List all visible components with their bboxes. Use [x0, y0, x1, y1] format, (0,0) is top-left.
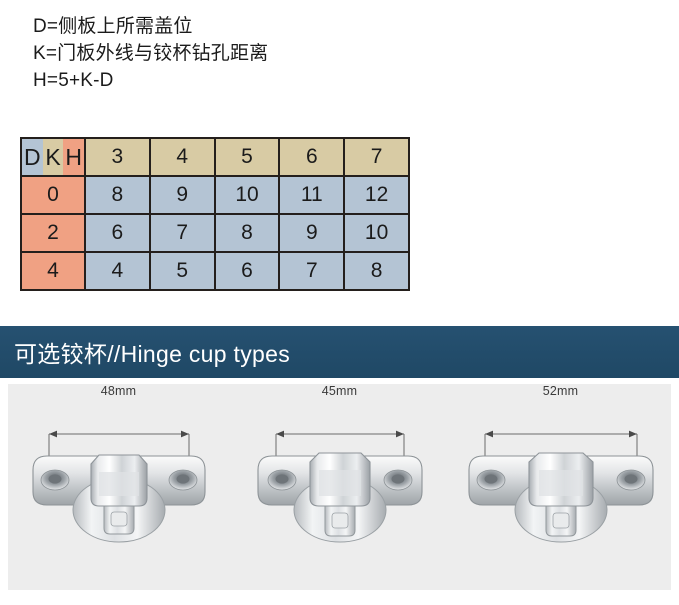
table-cell: 8: [215, 214, 280, 252]
table-cell: 8: [85, 176, 150, 214]
column-header-cell: 3: [85, 138, 150, 176]
corner-label-d: D: [22, 139, 43, 175]
table-cell: 9: [279, 214, 344, 252]
table-row: 2 6 7 8 9 10: [21, 214, 409, 252]
column-header-cell: 6: [279, 138, 344, 176]
row-label-cell: 2: [21, 214, 85, 252]
table-cell: 6: [215, 252, 280, 290]
formula-line-h: H=5+K-D: [33, 67, 453, 94]
hinge-cup-48-illustration: [19, 398, 219, 568]
formula-line-k: K=门板外线与铰杯钻孔距离: [33, 40, 453, 67]
formula-line-d: D=侧板上所需盖位: [33, 13, 453, 40]
table-cell: 4: [85, 252, 150, 290]
hinge-cup-48: 48mm: [8, 384, 229, 590]
table-cell: 6: [85, 214, 150, 252]
table-cell: 11: [279, 176, 344, 214]
table-row: 4 4 5 6 7 8: [21, 252, 409, 290]
column-header-cell: 7: [344, 138, 409, 176]
hinge-cup-52: 52mm: [450, 384, 671, 590]
table-cell: 9: [150, 176, 215, 214]
table-cell: 7: [150, 214, 215, 252]
table-cell: 8: [344, 252, 409, 290]
table-header-row: D K H 3 4 5 6 7: [21, 138, 409, 176]
hinge-cup-45: 45mm: [229, 384, 450, 590]
section-banner: 可选铰杯//Hinge cup types: [0, 326, 679, 378]
table-cell: 10: [344, 214, 409, 252]
hinge-gallery: 48mm: [8, 384, 671, 590]
column-header-cell: 4: [150, 138, 215, 176]
hinge-dimension-label: 48mm: [8, 384, 229, 398]
table-cell: 5: [150, 252, 215, 290]
column-header-cell: 5: [215, 138, 280, 176]
row-label-cell: 0: [21, 176, 85, 214]
table-corner-cell: D K H: [21, 138, 85, 176]
hinge-dimension-label: 52mm: [450, 384, 671, 398]
table-cell: 7: [279, 252, 344, 290]
section-banner-title: 可选铰杯//Hinge cup types: [14, 335, 290, 369]
table-row: 0 8 9 10 11 12: [21, 176, 409, 214]
corner-label-h: H: [63, 139, 84, 175]
table-cell: 10: [215, 176, 280, 214]
formula-legend: D=侧板上所需盖位 K=门板外线与铰杯钻孔距离 H=5+K-D: [33, 13, 453, 94]
hinge-cup-52-illustration: [461, 398, 661, 568]
corner-label-k: K: [43, 139, 64, 175]
dkh-reference-table: D K H 3 4 5 6 7 0 8 9 10 11 12 2 6 7 8 9: [20, 137, 410, 291]
hinge-cup-45-illustration: [240, 398, 440, 568]
hinge-dimension-label: 45mm: [229, 384, 450, 398]
row-label-cell: 4: [21, 252, 85, 290]
table-cell: 12: [344, 176, 409, 214]
